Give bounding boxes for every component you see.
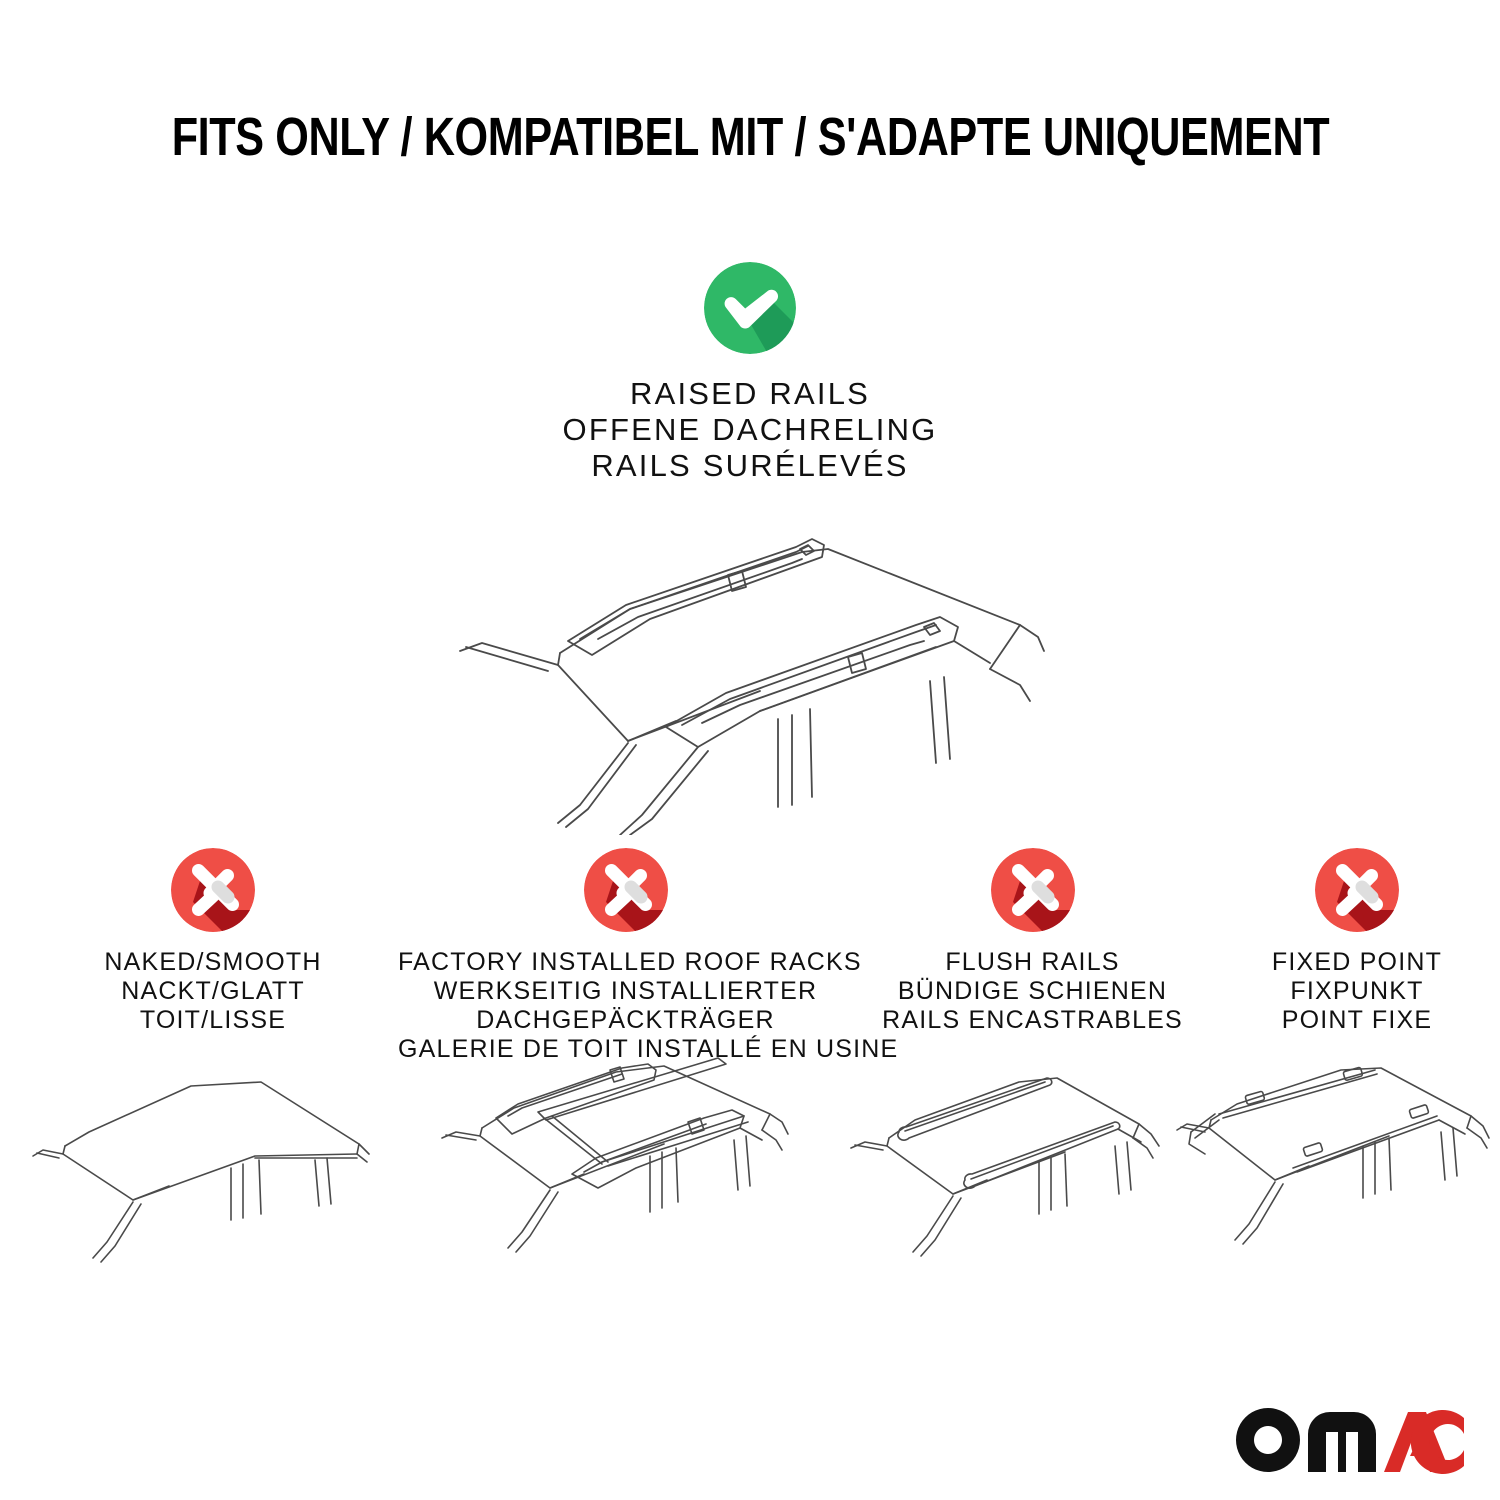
label-line-de-1: WERKSEITIG INSTALLIERTER	[398, 977, 853, 1006]
not-compatible-item-fixed-point: FIXED POINT FIXPUNKT POINT FIXE	[1212, 848, 1500, 1035]
not-compatible-item-factory-roof-rack: FACTORY INSTALLED ROOF RACKS WERKSEITIG …	[398, 848, 853, 1064]
compatible-label-line-de: OFFENE DACHRELING	[0, 412, 1500, 448]
label-line-fr: RAILS ENCASTRABLES	[845, 1006, 1220, 1035]
page-title-text: FITS ONLY / KOMPATIBEL MIT / S'ADAPTE UN…	[171, 108, 1329, 166]
cross-circle-icon	[171, 848, 255, 932]
not-compatible-label: FACTORY INSTALLED ROOF RACKS WERKSEITIG …	[398, 948, 853, 1064]
not-compatible-item-naked-smooth: NAKED/SMOOTH NACKT/GLATT TOIT/LISSE	[18, 848, 408, 1035]
label-line-de: NACKT/GLATT	[18, 977, 408, 1006]
not-compatible-label: FIXED POINT FIXPUNKT POINT FIXE	[1212, 948, 1500, 1035]
label-line-en: NAKED/SMOOTH	[18, 948, 408, 977]
not-compatible-label: NAKED/SMOOTH NACKT/GLATT TOIT/LISSE	[18, 948, 408, 1035]
cross-circle-icon	[991, 848, 1075, 932]
label-line-en: FLUSH RAILS	[845, 948, 1220, 977]
label-line-fr: POINT FIXE	[1212, 1006, 1500, 1035]
compatible-label: RAISED RAILS OFFENE DACHRELING RAILS SUR…	[0, 376, 1500, 484]
car-roof-fixed-point-illustration	[1175, 1058, 1500, 1288]
label-line-de: BÜNDIGE SCHIENEN	[845, 977, 1220, 1006]
label-line-de-2: DACHGEPÄCKTRÄGER	[398, 1006, 853, 1035]
logo-letter-m	[1308, 1412, 1376, 1472]
label-line-de: FIXPUNKT	[1212, 977, 1500, 1006]
check-circle-icon	[704, 262, 796, 354]
page-title: FITS ONLY / KOMPATIBEL MIT / S'ADAPTE UN…	[0, 108, 1500, 166]
compatible-label-line-fr: RAILS SURÉLEVÉS	[0, 448, 1500, 484]
label-line-en: FIXED POINT	[1212, 948, 1500, 977]
compatible-label-line-en: RAISED RAILS	[0, 376, 1500, 412]
cross-circle-icon	[584, 848, 668, 932]
car-roof-factory-roof-rack-illustration	[426, 1056, 826, 1286]
label-line-en: FACTORY INSTALLED ROOF RACKS	[398, 948, 853, 977]
not-compatible-label: FLUSH RAILS BÜNDIGE SCHIENEN RAILS ENCAS…	[845, 948, 1220, 1035]
cross-circle-icon	[1315, 848, 1399, 932]
not-compatible-item-flush-rails: FLUSH RAILS BÜNDIGE SCHIENEN RAILS ENCAS…	[845, 848, 1220, 1035]
car-roof-flush-rails-illustration	[843, 1058, 1223, 1288]
omac-logo	[1232, 1404, 1464, 1476]
compatible-section: RAISED RAILS OFFENE DACHRELING RAILS SUR…	[0, 262, 1500, 484]
car-roof-naked-smooth-illustration	[23, 1058, 403, 1288]
logo-letter-o	[1236, 1408, 1300, 1472]
label-line-fr: TOIT/LISSE	[18, 1006, 408, 1035]
not-compatible-section: NAKED/SMOOTH NACKT/GLATT TOIT/LISSE	[0, 848, 1500, 1298]
car-roof-with-raised-rails-illustration	[430, 505, 1070, 835]
